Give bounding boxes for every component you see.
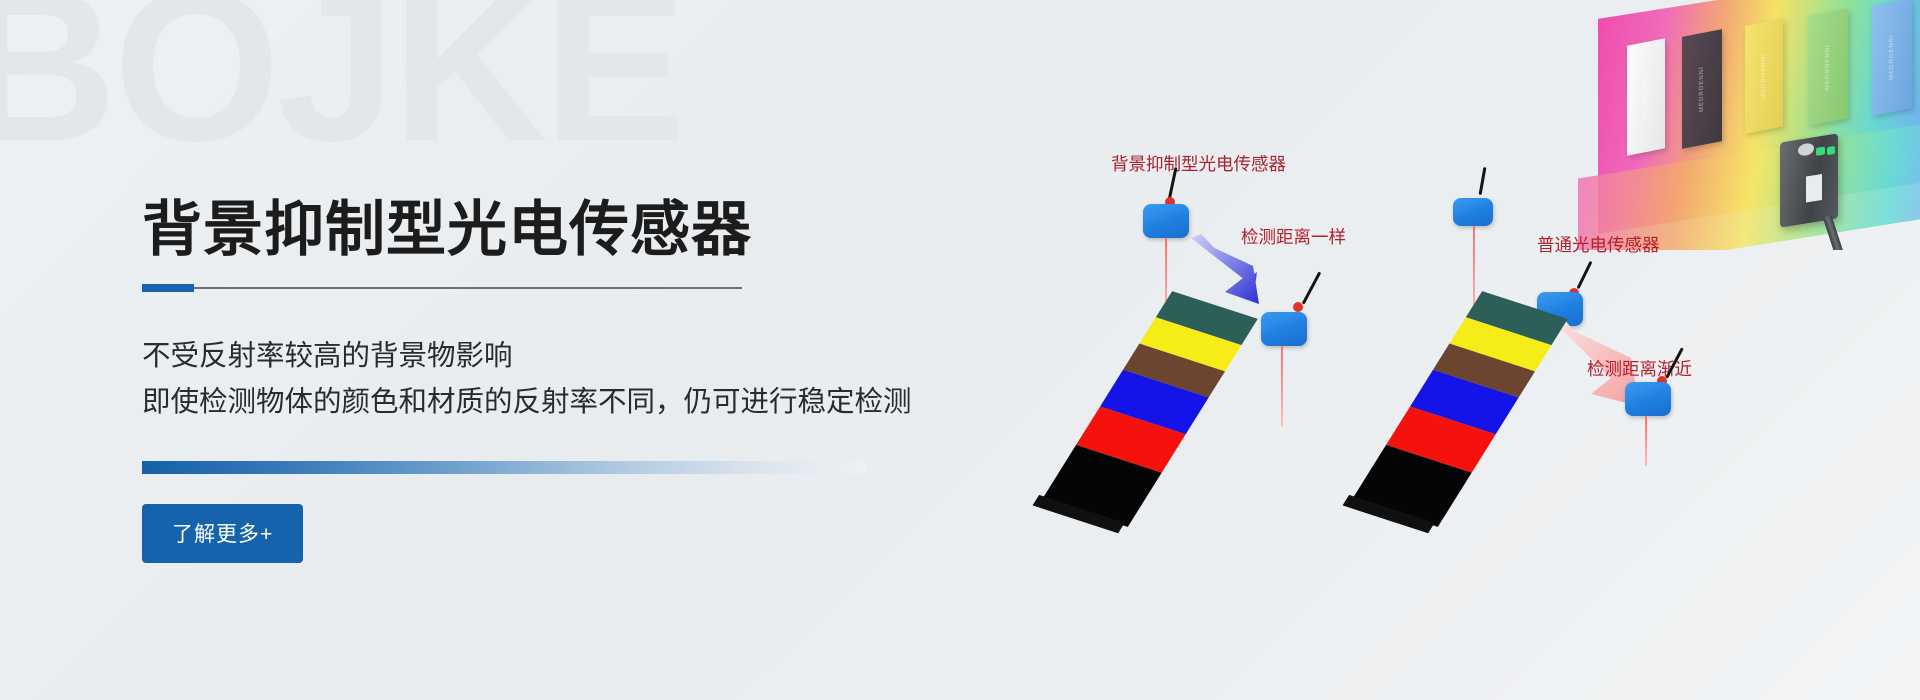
gradient-accent-bar — [142, 461, 867, 474]
sensor-antenna — [1302, 271, 1322, 304]
sensor-emitter-dot — [1293, 302, 1303, 312]
hero-paragraph-line-1: 不受反射率较高的背景物影响 — [142, 333, 1162, 379]
hero-paragraph-line-2: 即使检测物体的颜色和材质的反射率不同，仍可进行稳定检测 — [142, 379, 1162, 425]
brand-watermark: BOJKE — [0, 0, 683, 173]
sensor-indicator-icon — [1827, 146, 1835, 155]
same-distance-label: 检测距离一样 — [1241, 224, 1346, 249]
sensor-lens-icon — [1798, 142, 1814, 157]
sensor-beam — [1645, 416, 1647, 466]
learn-more-button[interactable]: 了解更多+ — [142, 504, 303, 563]
dark-plate: MEDROENNI — [1682, 29, 1722, 149]
color-target-strip — [1352, 291, 1568, 527]
standard-sensor-near — [1453, 198, 1493, 226]
plate-caption: MEDROENNI — [1889, 34, 1895, 81]
green-plate: MEDROENNI — [1808, 8, 1848, 126]
sensor-label-sticker — [1806, 174, 1822, 203]
bgs-sensor-far — [1261, 312, 1307, 346]
blue-plate: MEDROENNI — [1872, 0, 1912, 116]
bgs-sensor-near — [1143, 204, 1189, 238]
plate-caption: MEDROENNI — [1825, 44, 1831, 91]
white-plate: MEDROENNI — [1627, 38, 1665, 155]
hero-content: 背景抑制型光电传感器 不受反射率较高的背景物影响 即使检测物体的颜色和材质的反射… — [142, 198, 1162, 563]
title-divider — [142, 287, 742, 289]
yellow-plate: MEDROENNI — [1745, 18, 1783, 133]
bgs-sensor-label: 背景抑制型光电传感器 — [1111, 151, 1286, 176]
page-title: 背景抑制型光电传感器 — [142, 198, 1162, 261]
plate-caption: MEDROENNI — [1643, 74, 1649, 121]
plate-caption: MEDROENNI — [1761, 53, 1767, 100]
sensor-antenna — [1577, 261, 1593, 289]
photo-sensor-body — [1780, 133, 1838, 227]
comparison-diagram: 背景抑制型光电传感器 检测距离一样 普通光电传感器 — [1085, 160, 1735, 660]
plate-caption: MEDROENNI — [1699, 66, 1705, 113]
sensor-indicator-icon — [1816, 146, 1825, 155]
sensor-beam — [1281, 346, 1283, 426]
standard-sensor-far — [1625, 382, 1671, 416]
standard-sensor-label: 普通光电传感器 — [1537, 232, 1660, 257]
sensor-antenna — [1479, 167, 1487, 195]
